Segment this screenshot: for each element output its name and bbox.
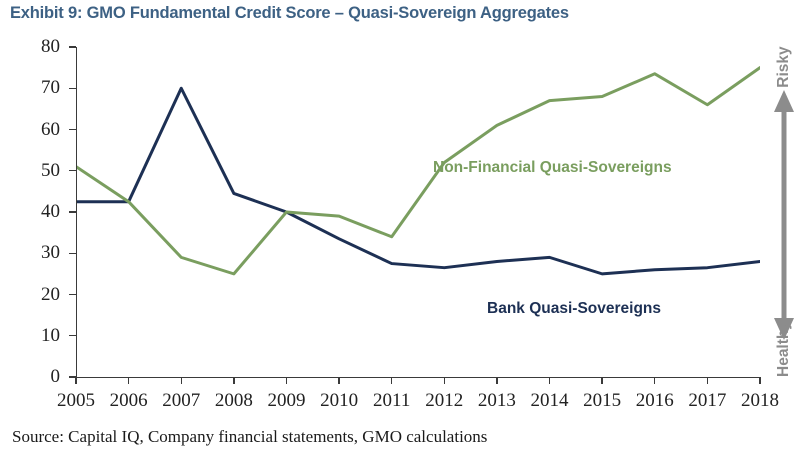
x-tick	[759, 377, 760, 384]
x-tick	[338, 377, 339, 384]
x-tick	[233, 377, 234, 384]
x-tick-label: 2006	[100, 391, 158, 410]
x-tick-label: 2008	[205, 391, 263, 410]
x-tick-label: 2018	[731, 391, 789, 410]
chart-lines	[76, 47, 760, 377]
x-tick-label: 2016	[626, 391, 684, 410]
x-tick-label: 2017	[678, 391, 736, 410]
x-axis-line	[76, 377, 760, 378]
x-tick-label: 2012	[415, 391, 473, 410]
x-tick	[654, 377, 655, 384]
x-tick-label: 2009	[257, 391, 315, 410]
risk-scale-indicator: Risky Healthy	[762, 40, 806, 385]
x-tick-label: 2014	[521, 391, 579, 410]
x-tick	[75, 377, 76, 384]
y-tick	[69, 88, 76, 89]
x-tick	[181, 377, 182, 384]
y-tick-label: 20	[14, 285, 60, 304]
x-tick-label: 2007	[152, 391, 210, 410]
x-tick	[707, 377, 708, 384]
y-tick	[69, 335, 76, 336]
x-tick	[444, 377, 445, 384]
y-tick	[69, 129, 76, 130]
y-tick	[69, 46, 76, 47]
x-tick-label: 2005	[47, 391, 105, 410]
x-tick	[601, 377, 602, 384]
y-tick-label: 0	[14, 367, 60, 386]
x-tick-label: 2010	[310, 391, 368, 410]
x-tick-label: 2015	[573, 391, 631, 410]
x-tick	[286, 377, 287, 384]
y-tick-label: 40	[14, 202, 60, 221]
x-tick-label: 2013	[468, 391, 526, 410]
double-headed-vertical-arrow-icon	[774, 90, 794, 340]
y-tick-label: 60	[14, 120, 60, 139]
y-tick	[69, 294, 76, 295]
y-tick	[69, 253, 76, 254]
y-tick-label: 50	[14, 161, 60, 180]
page-title: Exhibit 9: GMO Fundamental Credit Score …	[10, 4, 790, 23]
y-tick	[69, 170, 76, 171]
x-tick	[128, 377, 129, 384]
x-tick	[496, 377, 497, 384]
y-tick-label: 30	[14, 243, 60, 262]
chart-plot-area: 01020304050607080 2005200620072008200920…	[76, 47, 760, 377]
risky-label: Risky	[775, 36, 793, 98]
series-line	[76, 88, 760, 274]
healthy-label: Healthy	[775, 318, 793, 380]
y-tick	[69, 211, 76, 212]
source-caption: Source: Capital IQ, Company financial st…	[12, 427, 487, 447]
x-tick	[549, 377, 550, 384]
series-label-non-financial: Non-Financial Quasi-Sovereigns	[433, 159, 672, 177]
y-tick-label: 10	[14, 326, 60, 345]
y-tick-label: 80	[14, 37, 60, 56]
y-axis-line	[76, 47, 77, 377]
series-label-bank: Bank Quasi-Sovereigns	[487, 300, 661, 318]
y-tick-label: 70	[14, 78, 60, 97]
x-tick-label: 2011	[363, 391, 421, 410]
x-tick	[391, 377, 392, 384]
